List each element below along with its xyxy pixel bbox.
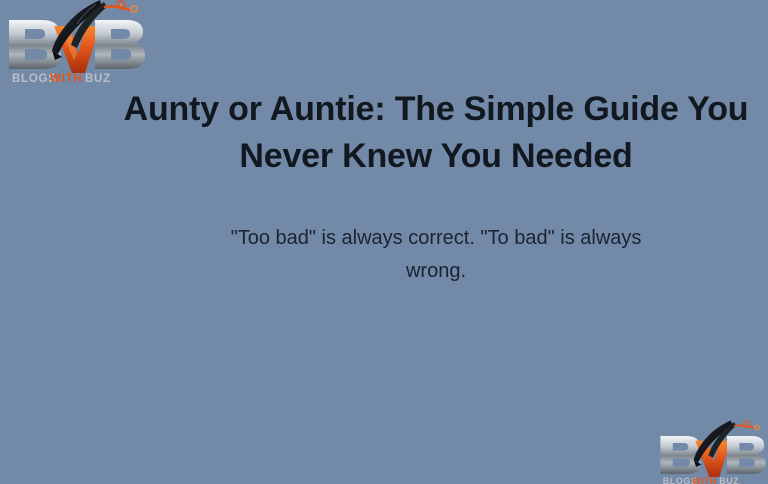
page-subtitle: "Too bad" is always correct. "To bad" is… <box>104 222 768 288</box>
watermark-logo[interactable]: BLOGS WITH BUZ <box>655 418 768 484</box>
page-subtitle-line-1: "Too bad" is always correct. "To bad" is… <box>104 222 768 255</box>
brand-logo[interactable]: BLOGS WITH BUZ <box>2 0 148 86</box>
page-subtitle-line-2: wrong. <box>104 255 768 288</box>
watermark-letter-b-left <box>660 436 700 474</box>
svg-text:WITH: WITH <box>692 476 717 484</box>
page-title-line-1: Aunty or Auntie: The Simple Guide You <box>104 86 768 133</box>
logo-tagline: BLOGS WITH BUZ <box>12 73 111 85</box>
svg-text:BUZ: BUZ <box>719 476 739 484</box>
slide-canvas: BLOGS WITH BUZ Aunty or Auntie: The Simp… <box>0 0 768 484</box>
svg-text:BUZ: BUZ <box>85 73 111 85</box>
page-title: Aunty or Auntie: The Simple Guide You Ne… <box>104 86 768 180</box>
svg-text:WITH: WITH <box>50 73 82 85</box>
watermark-accent-marks <box>735 421 760 430</box>
watermark-letter-b-right <box>727 436 766 474</box>
page-title-line-2: Never Knew You Needed <box>104 133 768 180</box>
logo-letter-b-right <box>95 20 145 69</box>
logo-accent-marks <box>105 1 137 12</box>
watermark-tagline: BLOGS WITH BUZ <box>663 476 740 484</box>
logo-letter-b-left <box>9 20 61 69</box>
